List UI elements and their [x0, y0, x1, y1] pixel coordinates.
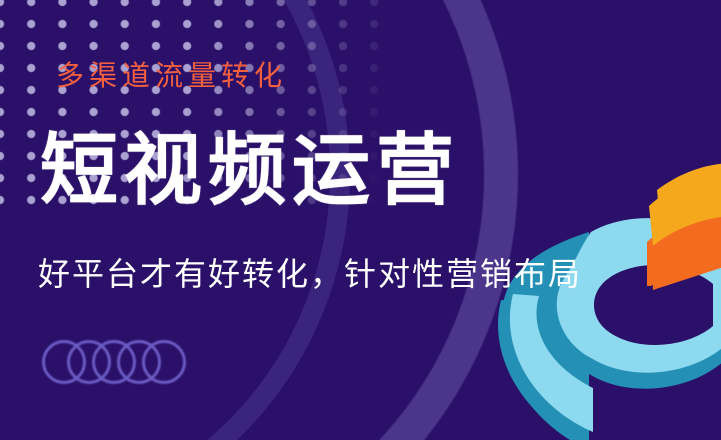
poster-canvas: 多渠道流量转化 短视频运营 好平台才有好转化，针对性营销布局: [0, 0, 721, 440]
tagline-text: 多渠道流量转化: [56, 62, 287, 90]
copy-block: 多渠道流量转化 短视频运营 好平台才有好转化，针对性营销布局: [0, 0, 721, 440]
subtitle-text: 好平台才有好转化，针对性营销布局: [38, 258, 582, 290]
headline-title: 短视频运营: [40, 132, 460, 210]
